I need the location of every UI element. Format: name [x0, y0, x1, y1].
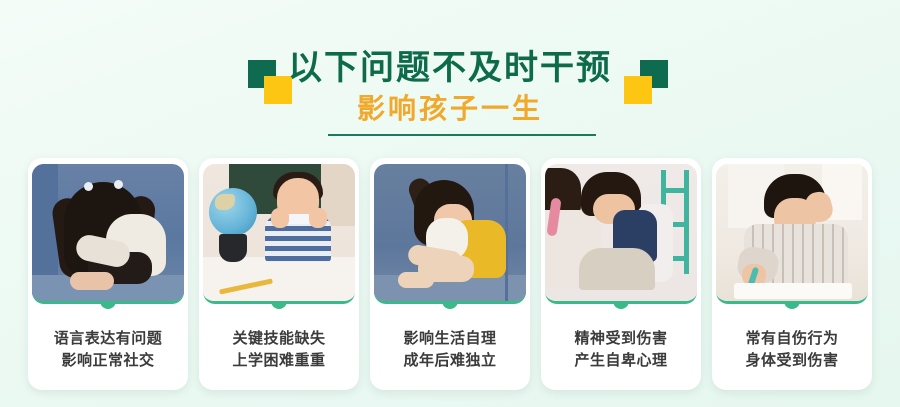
poster-header: 以下问题不及时干预 影响孩子一生	[0, 0, 900, 150]
problem-card-4[interactable]: 精神受到伤害 产生自卑心理	[541, 158, 701, 390]
card-nub-icon	[784, 301, 800, 309]
card-caption-line2: 影响正常社交	[28, 350, 188, 372]
card-caption-line2: 产生自卑心理	[541, 350, 701, 372]
problem-card-3[interactable]: 影响生活自理 成年后难独立	[370, 158, 530, 390]
card-photo-1	[32, 164, 184, 304]
card-nub-icon	[271, 301, 287, 309]
problem-card-5[interactable]: 常有自伤行为 身体受到伤害	[712, 158, 872, 390]
card-nub-icon	[613, 301, 629, 309]
card-caption-line1: 常有自伤行为	[745, 330, 838, 347]
page-subtitle: 影响孩子一生	[0, 92, 900, 126]
page-title: 以下问题不及时干预	[0, 48, 900, 88]
card-caption-4: 精神受到伤害 产生自卑心理	[541, 328, 701, 372]
card-caption-2: 关键技能缺失 上学困难重重	[199, 328, 359, 372]
card-caption-line1: 关键技能缺失	[232, 330, 325, 347]
card-photo-2	[203, 164, 355, 304]
photo-illustration-boy-with-globe	[203, 164, 355, 301]
card-caption-3: 影响生活自理 成年后难独立	[370, 328, 530, 372]
card-caption-line1: 精神受到伤害	[574, 330, 667, 347]
card-caption-1: 语言表达有问题 影响正常社交	[28, 328, 188, 372]
card-caption-5: 常有自伤行为 身体受到伤害	[712, 328, 872, 372]
problem-card-list: 语言表达有问题 影响正常社交 关键技能缺失 上学困难重重	[0, 158, 900, 398]
card-photo-5	[716, 164, 868, 304]
card-caption-line2: 身体受到伤害	[712, 350, 872, 372]
card-caption-line1: 影响生活自理	[403, 330, 496, 347]
card-caption-line2: 成年后难独立	[370, 350, 530, 372]
card-nub-icon	[442, 301, 458, 309]
photo-illustration-child-hugging-knees	[545, 164, 697, 301]
title-divider	[328, 134, 596, 136]
card-nub-icon	[100, 301, 116, 309]
problem-card-2[interactable]: 关键技能缺失 上学困难重重	[199, 158, 359, 390]
card-caption-line1: 语言表达有问题	[54, 330, 163, 347]
problem-card-1[interactable]: 语言表达有问题 影响正常社交	[28, 158, 188, 390]
card-photo-4	[545, 164, 697, 304]
poster-root: 以下问题不及时干预 影响孩子一生 语言表达有问题 影响正常社交	[0, 0, 900, 407]
card-caption-line2: 上学困难重重	[199, 350, 359, 372]
photo-illustration-girl-yellow-dress	[374, 164, 526, 301]
card-photo-3	[374, 164, 526, 304]
photo-illustration-girl-curled-up	[32, 164, 184, 301]
photo-illustration-boy-holding-head	[716, 164, 868, 301]
